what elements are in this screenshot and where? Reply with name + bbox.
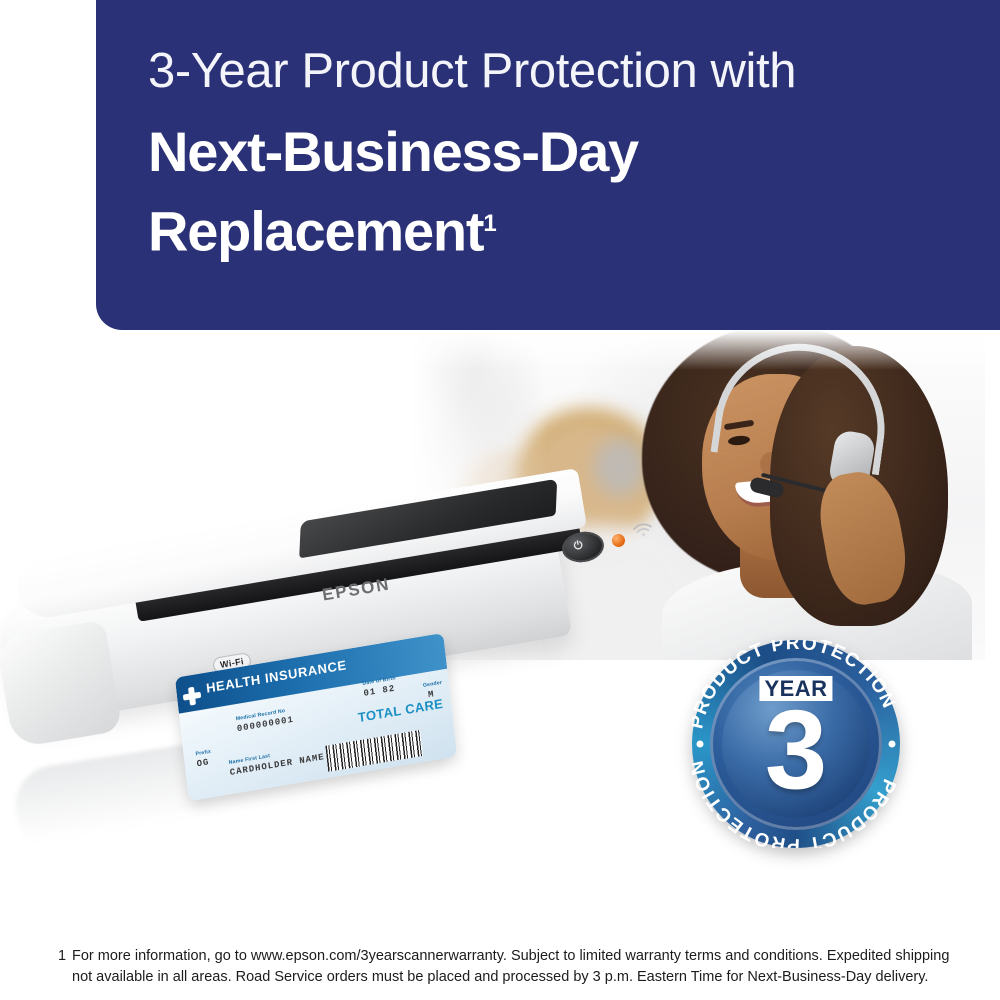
svg-text:PRODUCT PROTECTION: PRODUCT PROTECTION — [692, 640, 900, 731]
svg-text:PRODUCT PROTECTION: PRODUCT PROTECTION — [692, 757, 900, 848]
card-label-gender: Gender — [423, 680, 443, 689]
footnote-marker: 1 — [58, 946, 72, 988]
headline-line-1: 3-Year Product Protection with — [148, 40, 990, 102]
card-plan-name: TOTAL CARE — [357, 696, 444, 725]
card-label-prefix: Prefix — [195, 749, 211, 758]
footnote: 1 For more information, go to www.epson.… — [58, 946, 958, 988]
badge-ring-text: PRODUCT PROTECTION PRODUCT PROTECTION — [692, 640, 900, 848]
footnote-text: For more information, go to www.epson.co… — [72, 946, 958, 988]
card-value-prefix: OG — [196, 757, 210, 769]
medical-cross-icon — [182, 686, 202, 707]
headline-line-3-text: Replacement — [148, 200, 483, 263]
scanner-left-endcap — [0, 620, 122, 749]
photo-top-fade — [398, 330, 985, 370]
card-value-name: CARDHOLDER NAME — [229, 752, 325, 778]
product-protection-badge: PRODUCT PROTECTION PRODUCT PROTECTION 3 … — [692, 640, 900, 848]
wifi-signal-icon — [631, 520, 656, 541]
headline-line-3: Replacement1 — [148, 188, 990, 268]
headline-footnote-marker: 1 — [483, 210, 496, 237]
headline-block: 3-Year Product Protection with Next-Busi… — [148, 40, 990, 268]
status-led-indicator — [611, 533, 626, 548]
headline-banner: 3-Year Product Protection with Next-Busi… — [96, 0, 1000, 330]
headline-line-2: Next-Business-Day — [148, 116, 990, 188]
power-icon: ⏻ — [573, 539, 584, 553]
